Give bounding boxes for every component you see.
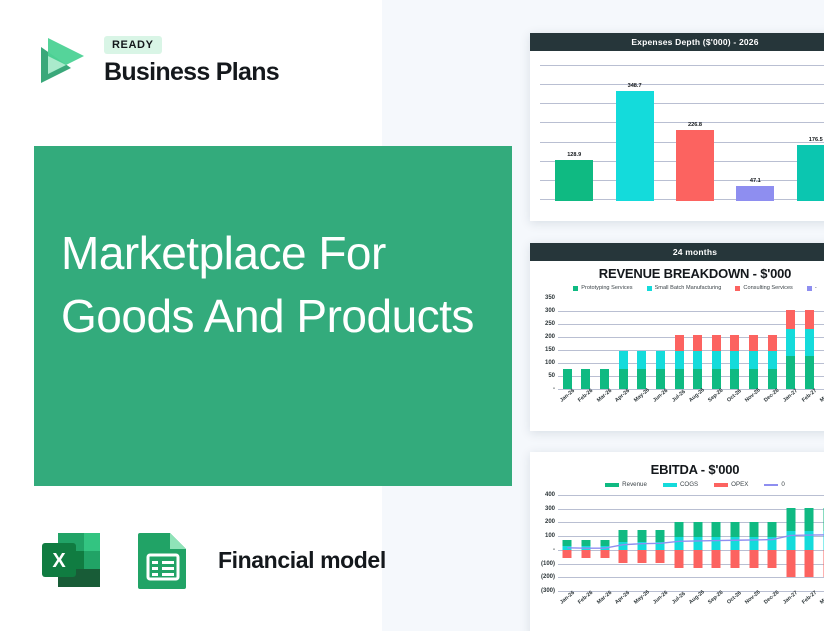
google-sheets-icon xyxy=(126,523,200,597)
bar-value-label: 128.9 xyxy=(567,152,581,158)
bar-segment xyxy=(805,329,814,356)
legend-label: 0 xyxy=(781,481,784,488)
stacked-bar xyxy=(637,351,646,389)
footer-row: X Financial model xyxy=(34,523,386,597)
expenses-plot: 128.9348.7226.847.1176.5 xyxy=(532,57,824,209)
chart-card-expenses[interactable]: Expenses Depth ($'000) - 2026 128.9348.7… xyxy=(530,33,824,221)
bar-segment xyxy=(675,351,684,369)
legend-label: Prototyping Services xyxy=(581,285,632,291)
bar-value-label: 226.8 xyxy=(688,122,702,128)
bar-segment xyxy=(637,369,646,389)
y-axis: 35030025020015010050- xyxy=(532,294,558,397)
bar-value-label: 47.1 xyxy=(750,178,761,184)
revenue-chart-band: 24 months xyxy=(530,243,824,261)
stacked-bar xyxy=(749,335,758,389)
bar-segment xyxy=(749,369,758,389)
bar-segment xyxy=(600,369,609,389)
bar-group: 47.1 xyxy=(736,57,774,201)
y-tick-label: 400 xyxy=(545,492,555,498)
bar-value-label: 176.5 xyxy=(809,137,823,143)
ready-badge: READY xyxy=(104,36,162,54)
y-tick-label: 250 xyxy=(545,321,555,327)
bar xyxy=(797,145,824,201)
legend-item: Small Batch Manufacturing xyxy=(647,285,722,291)
revenue-plot: 35030025020015010050- xyxy=(532,294,824,397)
bar-segment xyxy=(675,369,684,389)
bar-segment xyxy=(730,369,739,389)
brand-name: Business Plans xyxy=(104,58,279,87)
legend-swatch xyxy=(573,286,578,291)
legend-item: - xyxy=(807,285,817,291)
stacked-bar xyxy=(730,335,739,389)
chart-card-revenue[interactable]: 24 months REVENUE BREAKDOWN - $'000 Prot… xyxy=(530,243,824,431)
bar xyxy=(676,130,714,201)
bar-segment xyxy=(712,335,721,351)
ebitda-chart-title: EBITDA - $'000 xyxy=(530,452,824,479)
legend-swatch xyxy=(807,286,812,291)
revenue-chart-title: REVENUE BREAKDOWN - $'000 xyxy=(530,261,824,283)
legend-label: - xyxy=(815,285,817,291)
bar-segment xyxy=(768,335,777,351)
page-title: Marketplace For Goods And Products xyxy=(61,222,491,349)
bar-segment xyxy=(805,356,814,389)
footer-label: Financial model xyxy=(218,547,386,574)
microsoft-excel-icon: X xyxy=(34,523,108,597)
stacked-bar xyxy=(805,310,814,389)
legend-swatch xyxy=(714,483,728,487)
legend-item: 0 xyxy=(764,481,784,488)
bar-group: 226.8 xyxy=(676,57,714,201)
y-tick-label: 100 xyxy=(545,533,555,539)
legend-item: COGS xyxy=(663,481,698,488)
revenue-x-axis-labels: Jan-26Feb-26Mar-26Apr-26May-26Jun-26Jul-… xyxy=(532,397,824,427)
bar-segment xyxy=(730,335,739,351)
y-tick-label: 100 xyxy=(545,360,555,366)
bar-segment xyxy=(712,369,721,389)
bar-segment xyxy=(693,335,702,351)
bar-segment xyxy=(581,369,590,389)
stacked-bar xyxy=(675,335,684,389)
hero-panel: Marketplace For Goods And Products xyxy=(34,146,512,486)
ebitda-legend: RevenueCOGSOPEX0 xyxy=(530,479,824,491)
y-tick-label: 350 xyxy=(545,295,555,301)
stacked-bar xyxy=(581,369,590,389)
legend-label: OPEX xyxy=(731,481,748,488)
bar-segment xyxy=(730,351,739,369)
stacked-bar xyxy=(693,335,702,389)
bar-segment xyxy=(563,369,572,389)
bar-segment xyxy=(675,335,684,351)
slide-root: READY Business Plans Marketplace For Goo… xyxy=(0,0,824,631)
y-tick-label: 200 xyxy=(545,334,555,340)
y-tick-label: 50 xyxy=(548,373,555,379)
bar-segment xyxy=(656,351,665,369)
ebitda-x-axis-labels: Jan-26Feb-26Mar-26Apr-26May-26Jun-26Jul-… xyxy=(532,599,824,629)
y-tick-label: 300 xyxy=(545,506,555,512)
legend-swatch xyxy=(605,483,619,487)
bar xyxy=(555,160,593,201)
legend-item: Consulting Services xyxy=(735,285,792,291)
bar-segment xyxy=(768,351,777,369)
y-tick-label: 200 xyxy=(545,519,555,525)
y-tick-label: (300) xyxy=(541,588,555,594)
y-axis: 400300200100-(100)(200)(300) xyxy=(532,491,558,599)
legend-label: Small Batch Manufacturing xyxy=(655,285,722,291)
legend-label: COGS xyxy=(680,481,698,488)
legend-label: Consulting Services xyxy=(743,285,792,291)
ebitda-zero-line xyxy=(558,491,824,599)
legend-item: Prototyping Services xyxy=(573,285,632,291)
stacked-bar xyxy=(619,351,628,389)
svg-text:X: X xyxy=(52,550,66,572)
bar xyxy=(736,186,774,201)
bar-group: 176.5 xyxy=(797,57,824,201)
bar-segment xyxy=(749,351,758,369)
bar-segment xyxy=(656,369,665,389)
bar-segment xyxy=(637,351,646,369)
stacked-bar xyxy=(712,335,721,389)
play-triangle-logo-icon xyxy=(28,30,90,92)
stacked-bar xyxy=(563,369,572,389)
bar-segment xyxy=(786,310,795,329)
y-tick-label: (100) xyxy=(541,561,555,567)
expenses-bars: 128.9348.7226.847.1176.5 xyxy=(544,57,824,201)
legend-swatch xyxy=(735,286,740,291)
stacked-bar xyxy=(656,351,665,389)
bar-segment xyxy=(768,369,777,389)
brand-lockup: READY Business Plans xyxy=(28,30,279,92)
bar-segment xyxy=(619,351,628,369)
y-tick-label: - xyxy=(553,547,555,553)
y-tick-label: 300 xyxy=(545,308,555,314)
bar-segment xyxy=(749,335,758,351)
ebitda-plot: 400300200100-(100)(200)(300) xyxy=(532,491,824,599)
bar xyxy=(616,91,654,201)
bar-segment xyxy=(693,351,702,369)
legend-label: Revenue xyxy=(622,481,647,488)
bar-segment xyxy=(786,356,795,389)
bar-value-label: 348.7 xyxy=(628,83,642,89)
bar-segment xyxy=(805,310,814,329)
stacked-bar xyxy=(600,369,609,389)
legend-swatch xyxy=(764,484,778,486)
y-tick-label: 150 xyxy=(545,347,555,353)
legend-swatch xyxy=(647,286,652,291)
bar-segment xyxy=(693,369,702,389)
legend-swatch xyxy=(663,483,677,487)
bar-segment xyxy=(712,351,721,369)
y-tick-label: - xyxy=(553,386,555,392)
legend-item: Revenue xyxy=(605,481,647,488)
bar-segment xyxy=(786,329,795,356)
stacked-bar xyxy=(768,335,777,389)
bar-group: 348.7 xyxy=(616,57,654,201)
stacked-bar xyxy=(786,310,795,389)
y-tick-label: (200) xyxy=(541,574,555,580)
expenses-chart-band: Expenses Depth ($'000) - 2026 xyxy=(530,33,824,51)
bar-segment xyxy=(619,369,628,389)
chart-card-ebitda[interactable]: EBITDA - $'000 RevenueCOGSOPEX0 40030020… xyxy=(530,452,824,631)
revenue-legend: Prototyping ServicesSmall Batch Manufact… xyxy=(530,283,824,294)
revenue-bars xyxy=(558,298,824,389)
legend-item: OPEX xyxy=(714,481,748,488)
bar-group: 128.9 xyxy=(555,57,593,201)
